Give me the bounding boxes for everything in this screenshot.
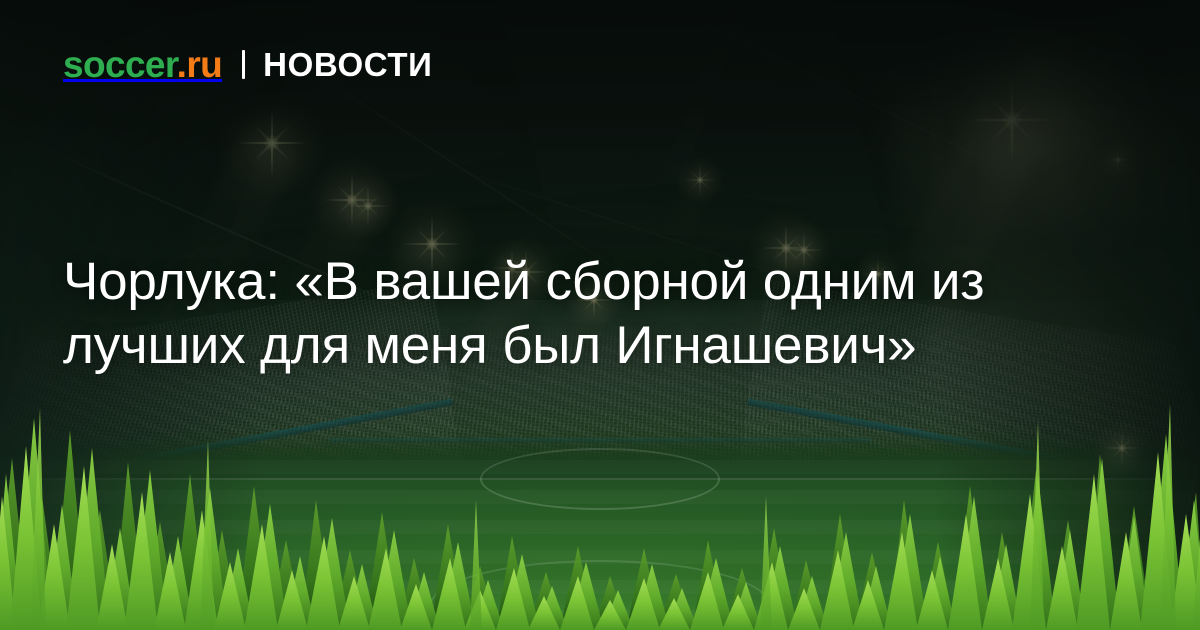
news-card: soccer.ru НОВОСТИ Чорлука: «В вашей сбор… [0, 0, 1200, 630]
header-separator [242, 50, 245, 79]
site-header: soccer.ru НОВОСТИ [63, 46, 432, 83]
grass-svg [0, 400, 1200, 630]
page-title: Чорлука: «В вашей сборной одним из лучши… [63, 250, 1148, 378]
logo-tld: .ru [177, 44, 222, 85]
foreground-grass [0, 400, 1200, 630]
logo-name: soccer [63, 44, 177, 85]
site-logo[interactable]: soccer.ru [63, 46, 222, 83]
section-label: НОВОСТИ [263, 48, 432, 81]
